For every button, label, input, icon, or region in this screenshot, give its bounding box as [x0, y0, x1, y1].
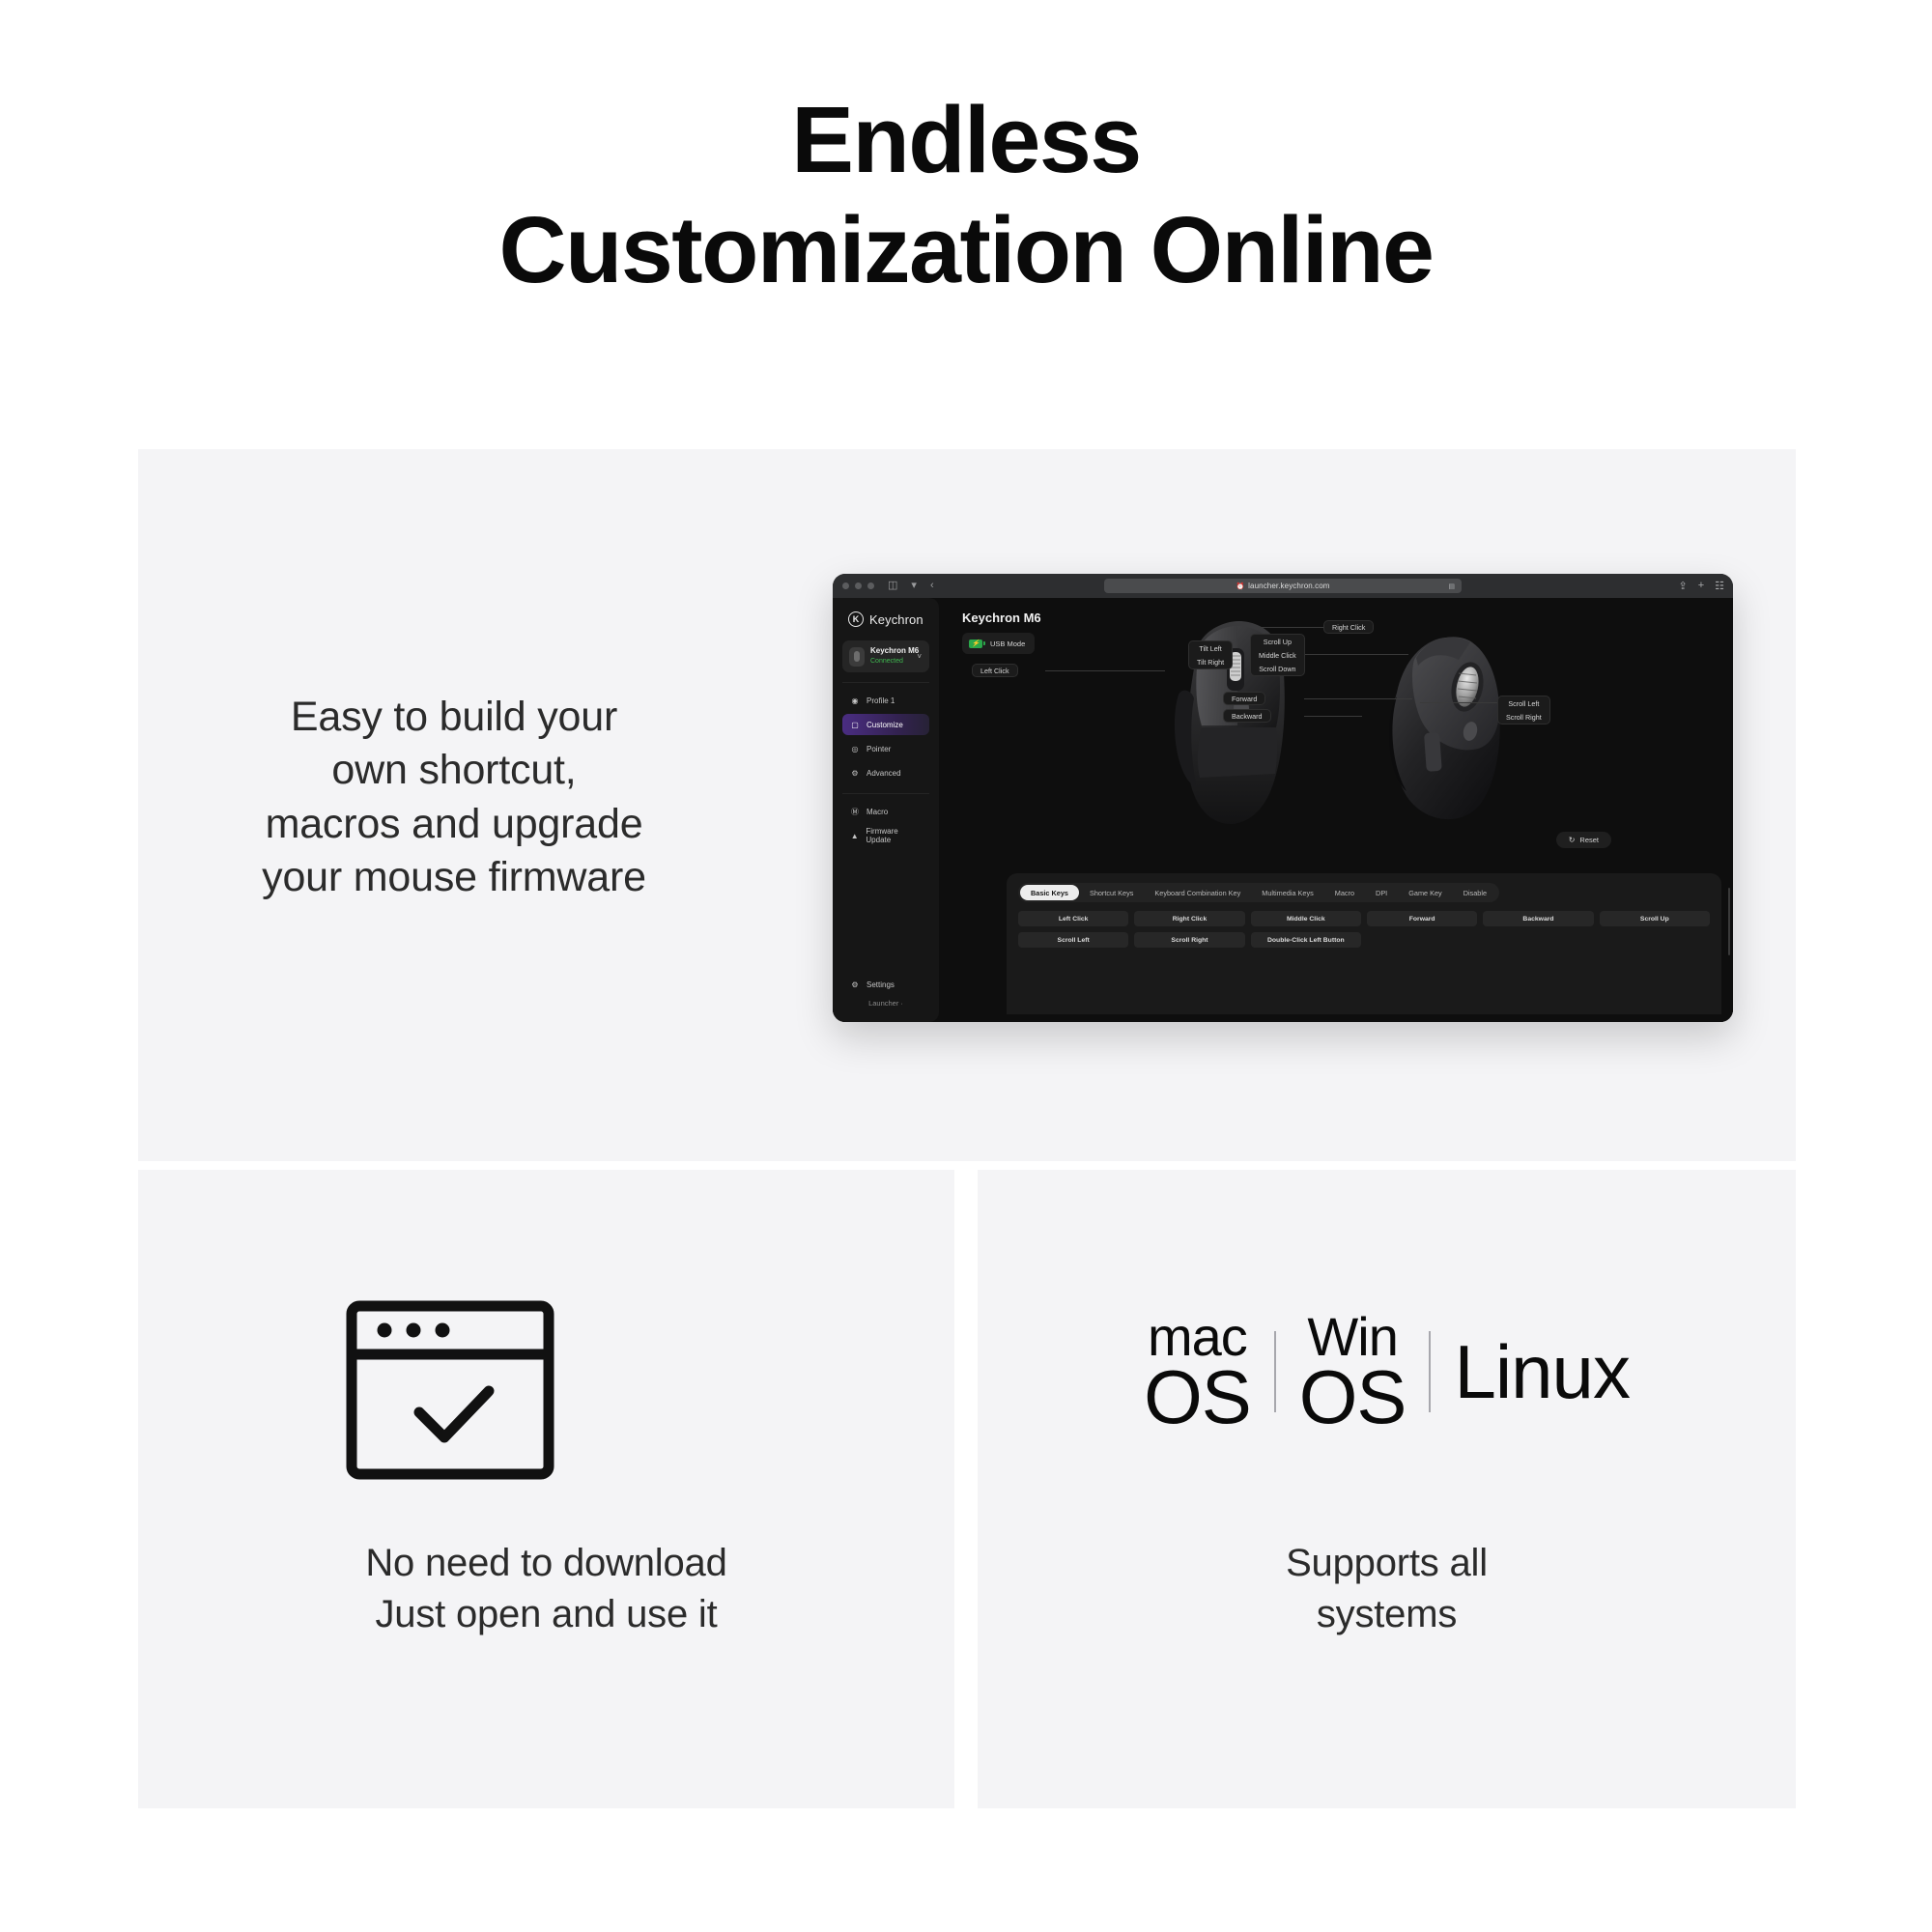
panel-right-caption: Supports all systems — [978, 1538, 1796, 1640]
app-main-pane: Keychron M6 ⚡ USB Mode — [939, 598, 1733, 1022]
mouse-diagram-stage: Left Click Right Click Tilt Left Tilt Ri… — [939, 598, 1733, 864]
leader-line-scroll-group — [1320, 654, 1408, 655]
panel-left-caption-line-2: Just open and use it — [138, 1589, 954, 1640]
device-selector[interactable]: Keychron M6 Connected ˅ — [842, 640, 929, 672]
sidebar-label-settings: Settings — [867, 980, 895, 989]
minimize-icon[interactable] — [855, 582, 862, 589]
os-logo-linux: Linux — [1431, 1328, 1652, 1416]
sidebar-label-customize: Customize — [867, 721, 903, 729]
feature-copy-line-1: Easy to build your — [184, 691, 724, 744]
sidebar-label-advanced: Advanced — [867, 769, 901, 778]
panel-left-caption-line-1: No need to download — [138, 1538, 954, 1589]
sidebar-item-macro[interactable]: Ⓜ Macro — [842, 801, 929, 822]
share-icon[interactable]: ⇪ — [1678, 580, 1687, 592]
os-logo-macos-bottom: OS — [1144, 1362, 1251, 1433]
sidebar-nav-secondary: Ⓜ Macro ▲ Firmware Update — [842, 793, 929, 856]
leader-line-forward — [1304, 698, 1412, 699]
page-headline: Endless Customization Online — [0, 85, 1932, 306]
launcher-version-label: Launcher · — [833, 999, 939, 1011]
sidebar-item-pointer[interactable]: ◎ Pointer — [842, 738, 929, 759]
feature-panel-supports-all-systems — [978, 1170, 1796, 1808]
device-status: Connected — [870, 657, 919, 666]
callout-middle-click[interactable]: Middle Click — [1251, 648, 1304, 662]
gear-advanced-icon: ⚙ — [850, 768, 860, 778]
key-button[interactable]: Scroll Left — [1018, 932, 1128, 948]
vertical-scrollbar[interactable] — [1728, 888, 1730, 955]
key-button-grid: Left Click Right Click Middle Click Forw… — [1018, 911, 1710, 948]
headline-line-2: Customization Online — [0, 195, 1932, 305]
tab-game-key[interactable]: Game Key — [1398, 885, 1452, 900]
callout-group-scroll-vertical[interactable]: Scroll Up Middle Click Scroll Down — [1250, 634, 1305, 676]
device-thumbnail-icon — [849, 647, 865, 667]
tab-multimedia-keys[interactable]: Multimedia Keys — [1251, 885, 1324, 900]
callout-scroll-left[interactable]: Scroll Left — [1498, 696, 1549, 710]
feature-copy-line-2: own shortcut, — [184, 744, 724, 797]
callout-left-click[interactable]: Left Click — [972, 664, 1018, 677]
key-button[interactable]: Left Click — [1018, 911, 1128, 926]
feature-panel-no-download — [138, 1170, 954, 1808]
key-assignment-panel: Basic Keys Shortcut Keys Keyboard Combin… — [1007, 873, 1721, 1014]
callout-scroll-up[interactable]: Scroll Up — [1251, 635, 1304, 648]
callout-forward[interactable]: Forward — [1223, 692, 1265, 705]
close-icon[interactable] — [842, 582, 849, 589]
feature-copy-line-4: your mouse firmware — [184, 851, 724, 904]
sidebar-nav-footer: ⚙ Settings Launcher · — [833, 974, 939, 1022]
sidebar-label-profile-1: Profile 1 — [867, 696, 895, 705]
zoom-icon[interactable] — [867, 582, 874, 589]
reset-circle-icon: ↻ — [1569, 836, 1576, 844]
device-name: Keychron M6 — [870, 646, 919, 657]
sidebar-item-firmware-update[interactable]: ▲ Firmware Update — [842, 825, 929, 846]
sidebar-toggle-icon[interactable]: ◫ — [888, 581, 897, 591]
app-brand: K Keychron — [833, 611, 939, 627]
key-button[interactable]: Forward — [1367, 911, 1477, 926]
reader-icon[interactable]: ▤ — [1448, 582, 1455, 590]
reset-button[interactable]: ↻ Reset — [1556, 832, 1611, 848]
feature-copy-text: Easy to build your own shortcut, macros … — [184, 691, 724, 905]
leader-line-backward — [1304, 716, 1362, 717]
browser-window-mockup: ◫ ▾ ‹ ⏰ launcher.keychron.com ▤ ⇪ + ☷ K … — [833, 574, 1733, 1022]
feature-copy-line-3: macros and upgrade — [184, 798, 724, 851]
callout-group-scroll-horizontal[interactable]: Scroll Left Scroll Right — [1497, 696, 1550, 724]
tab-disable[interactable]: Disable — [1453, 885, 1497, 900]
os-support-logos: mac OS Win OS Linux — [978, 1312, 1796, 1433]
tab-basic-keys[interactable]: Basic Keys — [1020, 885, 1079, 900]
window-traffic-lights[interactable] — [842, 582, 874, 589]
profile-icon: ◉ — [850, 696, 860, 705]
key-button[interactable]: Double-Click Left Button — [1251, 932, 1361, 948]
key-button[interactable]: Scroll Right — [1134, 932, 1244, 948]
panel-left-caption: No need to download Just open and use it — [138, 1538, 954, 1640]
sidebar-label-macro: Macro — [867, 808, 888, 816]
tabs-overview-icon[interactable]: ☷ — [1715, 580, 1724, 592]
tab-keyboard-combination-key[interactable]: Keyboard Combination Key — [1144, 885, 1251, 900]
chevron-down-icon[interactable]: ▾ — [911, 581, 917, 591]
firmware-update-icon: ▲ — [850, 831, 859, 840]
os-logo-windows-bottom: OS — [1299, 1362, 1406, 1433]
callout-group-tilt[interactable]: Tilt Left Tilt Right — [1188, 640, 1233, 669]
os-logo-macos: mac OS — [1121, 1312, 1274, 1433]
os-logo-windows: Win OS — [1276, 1312, 1430, 1433]
address-bar[interactable]: ⏰ launcher.keychron.com ▤ — [1104, 579, 1462, 593]
chevron-down-icon[interactable]: ˅ — [917, 652, 922, 661]
leader-line-left-click — [1045, 670, 1165, 671]
sidebar-item-customize[interactable]: ▢ Customize — [842, 714, 929, 735]
key-category-tabs: Basic Keys Shortcut Keys Keyboard Combin… — [1018, 883, 1499, 902]
tab-macro[interactable]: Macro — [1324, 885, 1365, 900]
callout-right-click[interactable]: Right Click — [1323, 620, 1374, 634]
sidebar-item-settings[interactable]: ⚙ Settings — [842, 974, 929, 995]
key-button[interactable]: Backward — [1483, 911, 1593, 926]
headline-line-1: Endless — [0, 85, 1932, 195]
key-button[interactable]: Scroll Up — [1600, 911, 1710, 926]
clock-icon: ⏰ — [1236, 582, 1244, 590]
browser-window-check-icon — [344, 1298, 556, 1482]
mouse-icon: ▢ — [850, 720, 860, 729]
gear-icon: ⚙ — [850, 980, 860, 989]
reset-button-label: Reset — [1579, 836, 1599, 844]
tab-dpi[interactable]: DPI — [1365, 885, 1398, 900]
key-button[interactable]: Right Click — [1134, 911, 1244, 926]
plus-icon[interactable]: + — [1698, 580, 1704, 592]
callout-tilt-left[interactable]: Tilt Left — [1189, 641, 1232, 655]
brand-name: Keychron — [869, 612, 923, 627]
callout-scroll-right[interactable]: Scroll Right — [1498, 710, 1549, 724]
sidebar-item-advanced[interactable]: ⚙ Advanced — [842, 762, 929, 783]
callout-tilt-right[interactable]: Tilt Right — [1189, 655, 1232, 668]
macro-icon: Ⓜ — [850, 807, 860, 816]
leader-line-scroll-side — [1420, 702, 1499, 703]
keychron-logo-icon: K — [848, 611, 864, 627]
chevron-left-icon[interactable]: ‹ — [930, 581, 934, 591]
callout-scroll-down[interactable]: Scroll Down — [1251, 662, 1304, 675]
sidebar-label-pointer: Pointer — [867, 745, 891, 753]
keychron-launcher-app: K Keychron Keychron M6 Connected ˅ ◉ Pro… — [833, 598, 1733, 1022]
browser-chrome-bar: ◫ ▾ ‹ ⏰ launcher.keychron.com ▤ ⇪ + ☷ — [833, 574, 1733, 598]
pointer-icon: ◎ — [850, 744, 860, 753]
panel-right-caption-line-2: systems — [978, 1589, 1796, 1640]
app-sidebar: K Keychron Keychron M6 Connected ˅ ◉ Pro… — [833, 598, 939, 1022]
sidebar-label-firmware-update: Firmware Update — [866, 827, 922, 844]
sidebar-item-profile-1[interactable]: ◉ Profile 1 — [842, 690, 929, 711]
sidebar-nav-primary: ◉ Profile 1 ▢ Customize ◎ Pointer ⚙ Adva… — [842, 682, 929, 793]
tab-shortcut-keys[interactable]: Shortcut Keys — [1079, 885, 1144, 900]
panel-right-caption-line-1: Supports all — [978, 1538, 1796, 1589]
browser-chrome-actions: ⇪ + ☷ — [1678, 580, 1724, 592]
callout-backward[interactable]: Backward — [1223, 709, 1271, 723]
address-bar-url: launcher.keychron.com — [1248, 582, 1329, 590]
key-button[interactable]: Middle Click — [1251, 911, 1361, 926]
